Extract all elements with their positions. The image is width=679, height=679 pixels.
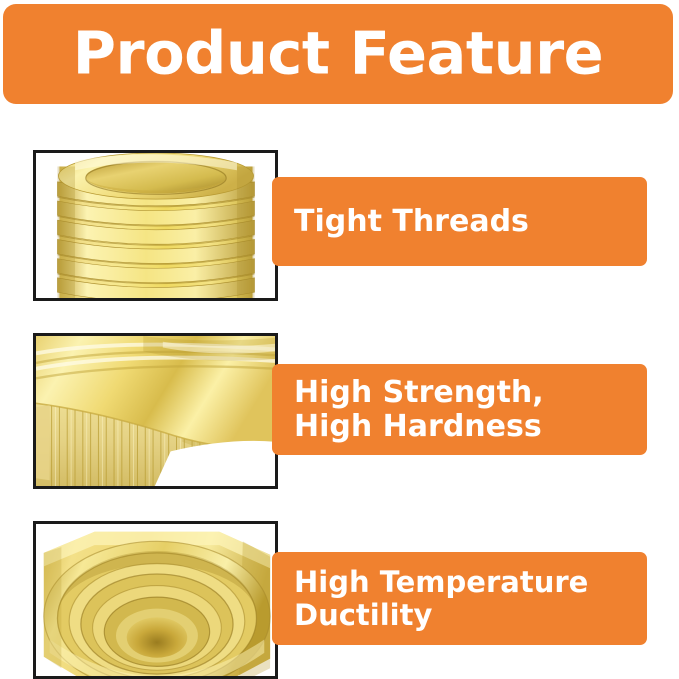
feature-1-label: Tight Threads xyxy=(272,205,539,239)
feature-2-label: High Strength, High Hardness xyxy=(272,376,554,443)
feature-2-photo-frame xyxy=(33,333,278,489)
feature-3-label-card: High Temperature Ductility xyxy=(272,552,647,645)
product-feature-infographic: Product Feature xyxy=(0,0,679,676)
feature-1-label-card: Tight Threads xyxy=(272,177,647,266)
brass-fitting-knurled-flange-photo xyxy=(36,336,275,486)
feature-2-label-card: High Strength, High Hardness xyxy=(272,364,647,455)
feature-3-photo-frame xyxy=(33,521,278,679)
page-title: Product Feature xyxy=(3,23,673,82)
brass-fitting-external-threads-photo xyxy=(36,153,275,298)
brass-fitting-internal-threads-photo xyxy=(36,524,275,676)
feature-1-photo-frame xyxy=(33,150,278,301)
header-banner: Product Feature xyxy=(3,4,673,104)
feature-3-label: High Temperature Ductility xyxy=(272,566,598,631)
